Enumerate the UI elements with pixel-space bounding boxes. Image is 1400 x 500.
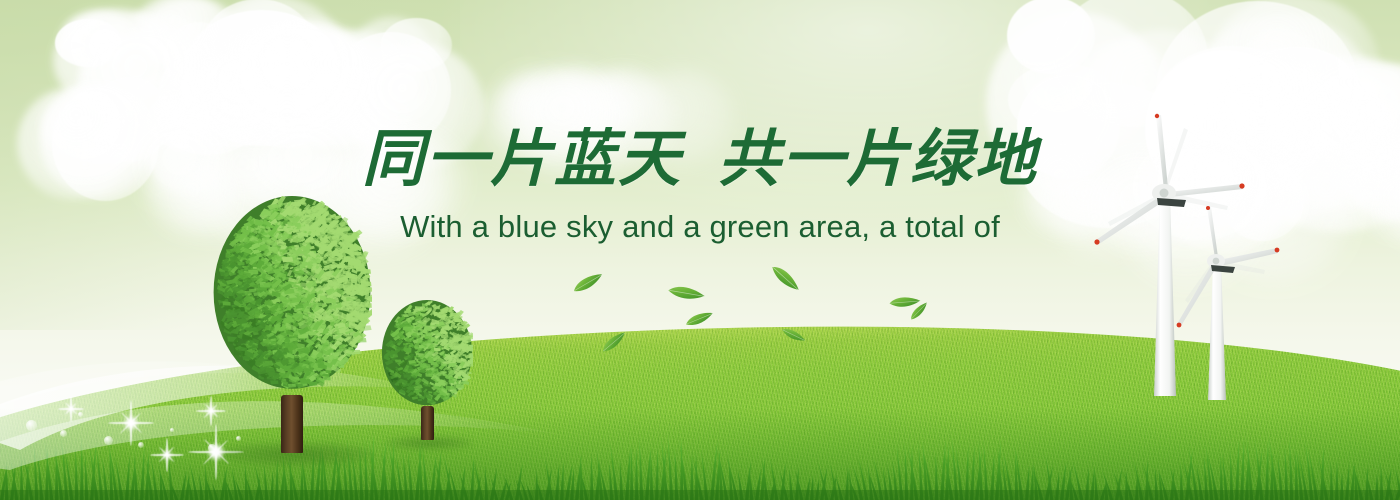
- eco-banner: 同一片蓝天共一片绿地 With a blue sky and a green a…: [0, 0, 1400, 500]
- headline-part-2: 共一片绿地: [718, 122, 1038, 195]
- grass-blade-shapes: [0, 432, 1400, 500]
- headline-part-1: 同一片蓝天: [362, 122, 682, 195]
- tree-large-trunk: [281, 395, 303, 453]
- subheadline: With a blue sky and a green area, a tota…: [0, 211, 1400, 242]
- headline: 同一片蓝天共一片绿地: [0, 128, 1400, 190]
- tree-small: [381, 300, 473, 446]
- tree-small-canopy: [381, 300, 473, 412]
- grass-blades: [0, 428, 1400, 500]
